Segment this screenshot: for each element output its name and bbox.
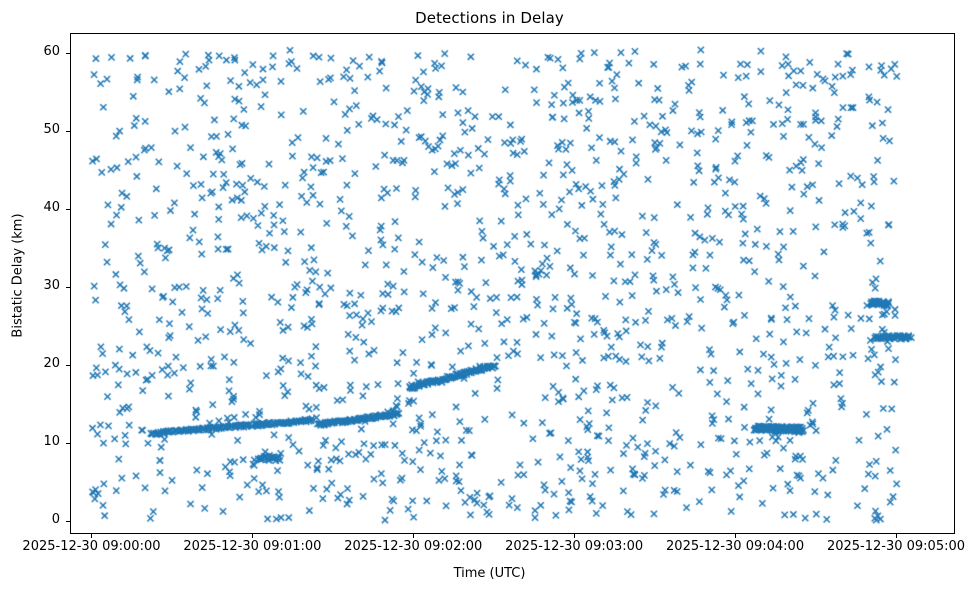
x-tick-label: 2025-12-30 09:05:00 bbox=[801, 539, 979, 554]
y-tick-mark bbox=[66, 443, 70, 444]
y-tick-label: 10 bbox=[6, 434, 60, 449]
y-tick-mark bbox=[66, 365, 70, 366]
x-tick-mark bbox=[574, 534, 575, 538]
y-tick-mark bbox=[66, 53, 70, 54]
plot-axes bbox=[70, 33, 955, 534]
y-axis-label: Bistatic Delay (km) bbox=[11, 196, 26, 356]
y-tick-mark bbox=[66, 131, 70, 132]
y-tick-label: 50 bbox=[6, 122, 60, 137]
y-tick-label: 60 bbox=[6, 44, 60, 59]
y-tick-label: 0 bbox=[6, 512, 60, 527]
x-tick-mark bbox=[735, 534, 736, 538]
y-tick-label: 20 bbox=[6, 356, 60, 371]
scatter-plot-canvas bbox=[71, 34, 955, 534]
page-title: Detections in Delay bbox=[0, 9, 979, 27]
matplotlib-figure: Detections in Delay 0102030405060 2025-1… bbox=[0, 0, 979, 590]
y-tick-mark bbox=[66, 287, 70, 288]
x-axis-label: Time (UTC) bbox=[0, 566, 979, 581]
x-tick-mark bbox=[252, 534, 253, 538]
x-tick-mark bbox=[91, 534, 92, 538]
x-tick-mark bbox=[896, 534, 897, 538]
y-tick-mark bbox=[66, 521, 70, 522]
y-tick-mark bbox=[66, 209, 70, 210]
x-tick-mark bbox=[413, 534, 414, 538]
